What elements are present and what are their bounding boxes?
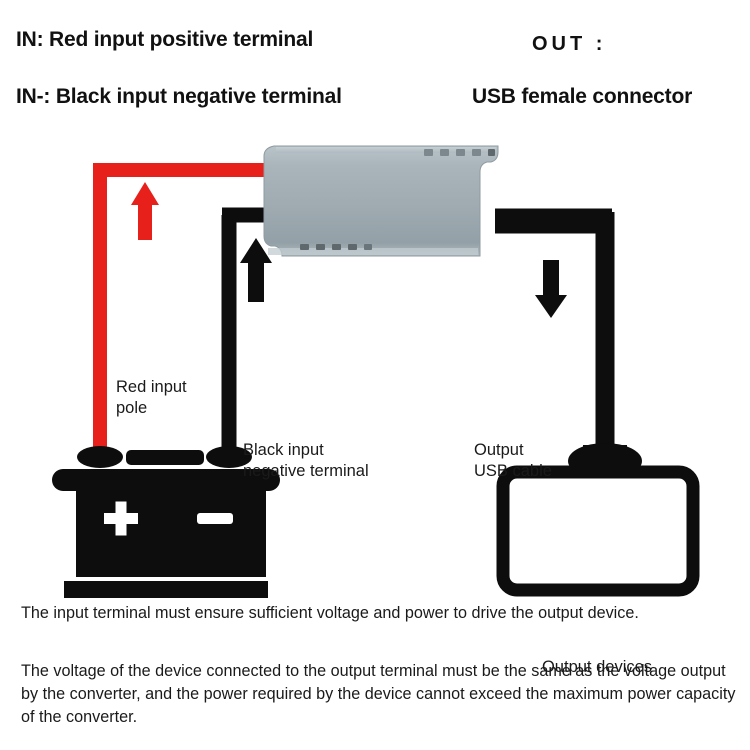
battery-base <box>64 581 268 598</box>
header-in-positive-label: IN: Red input positive terminal <box>16 28 313 52</box>
connection-diagram: Red input pole Black input negative term… <box>0 120 750 600</box>
header-out-title: OUT : <box>532 33 606 56</box>
label-output-usb-cable: Output USB cable <box>474 440 552 482</box>
red-up-arrow-icon <box>131 182 159 240</box>
battery-positive-terminal <box>77 446 123 468</box>
output-device-screen <box>503 472 693 590</box>
black-up-arrow-icon <box>240 238 272 302</box>
note-output-voltage: The voltage of the device connected to t… <box>21 660 737 729</box>
header-usb-connector-label: USB female connector <box>472 85 692 109</box>
battery-minus-icon <box>197 513 233 524</box>
battery-body <box>76 491 266 577</box>
black-down-arrow-icon <box>535 260 567 318</box>
diagram-canvas <box>0 120 750 600</box>
note-input-terminal: The input terminal must ensure sufficien… <box>21 602 737 625</box>
label-black-input-negative: Black input negative terminal <box>243 440 369 482</box>
label-red-input-pole: Red input pole <box>116 377 187 419</box>
dc-converter-module <box>264 146 498 256</box>
output-usb-cable-wire <box>495 212 612 455</box>
wiring-diagram-page: IN: Red input positive terminal IN-: Bla… <box>0 0 750 750</box>
battery-vent-cap <box>126 450 204 465</box>
header-in-negative-label: IN-: Black input negative terminal <box>16 85 342 109</box>
